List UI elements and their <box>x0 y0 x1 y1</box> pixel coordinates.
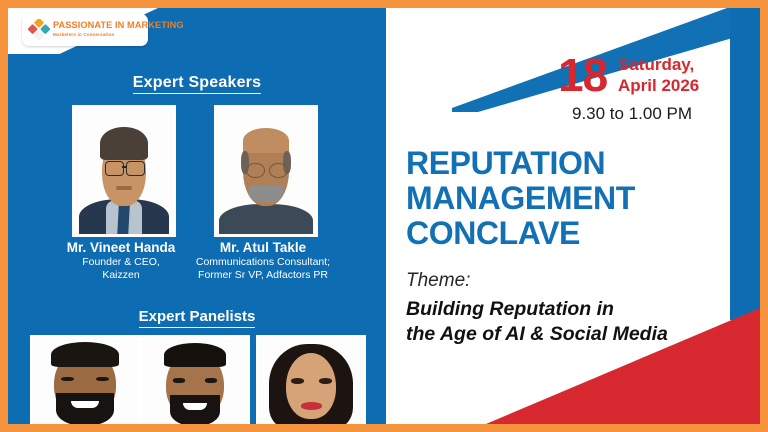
speaker-role-line: Kaizzen <box>42 269 200 282</box>
brand-tagline: Marketers in Conversation <box>53 32 114 37</box>
avatar <box>75 108 173 234</box>
panelist-photo-3 <box>256 335 366 424</box>
brand-name: PASSIONATE IN MARKETING <box>53 20 184 30</box>
beard-shape <box>249 186 282 202</box>
avatar <box>143 338 247 424</box>
puzzle-pieces-icon <box>28 19 50 41</box>
eyeglasses-left <box>105 161 124 176</box>
lips-shape <box>301 402 323 409</box>
tie-shape <box>117 204 129 237</box>
panelist-photo-1 <box>30 335 140 424</box>
theme-line-1: Building Reputation in <box>406 298 614 321</box>
poster-canvas: Expert Speakers <box>8 8 760 424</box>
mouth-shape <box>116 186 132 190</box>
torso-shape <box>219 204 313 237</box>
event-month-year: April 2026 <box>618 75 699 96</box>
hair-shape <box>164 343 226 367</box>
eye-right <box>319 378 331 384</box>
eyeglasses-bridge <box>122 166 126 168</box>
teeth-shape <box>183 403 208 409</box>
eyeglasses-right <box>269 163 288 178</box>
bald-head-shape <box>243 128 288 153</box>
event-day-number: 18 <box>558 52 607 98</box>
speaker-photo-vineet-handa <box>72 105 176 237</box>
theme-label: Theme: <box>406 270 470 292</box>
speaker-role: Founder & CEO, Kaizzen <box>42 256 200 281</box>
event-title-line-1: REPUTATION <box>406 146 706 181</box>
event-title: REPUTATION MANAGEMENT CONCLAVE <box>406 146 706 251</box>
blue-vertical-bar <box>730 8 760 320</box>
eye-right <box>96 377 108 382</box>
theme-line-2: the Age of AI & Social Media <box>406 323 668 346</box>
speaker-role-line: Former Sr VP, Adfactors PR <box>184 269 342 282</box>
expert-speakers-heading: Expert Speakers <box>8 74 386 92</box>
event-title-line-3: CONCLAVE <box>406 216 706 251</box>
hair-shape <box>51 342 120 368</box>
speaker-role-line: Founder & CEO, <box>42 256 200 269</box>
eye-left <box>61 377 73 382</box>
event-poster: Expert Speakers <box>0 0 768 432</box>
event-title-line-2: MANAGEMENT <box>406 181 706 216</box>
avatar <box>217 108 315 234</box>
avatar <box>259 338 363 424</box>
expert-panelists-heading: Expert Panelists <box>8 308 386 325</box>
teeth-shape <box>71 401 98 407</box>
eye-left <box>173 378 184 383</box>
speaker-role: Communications Consultant; Former Sr VP,… <box>184 256 342 281</box>
expert-panelists-heading-text: Expert Panelists <box>139 308 256 328</box>
speaker-name: Mr. Vineet Handa <box>42 240 200 255</box>
event-time: 9.30 to 1.00 PM <box>572 104 692 124</box>
eye-right <box>205 378 216 383</box>
right-white-area: 18 Saturday, April 2026 9.30 to 1.00 PM … <box>386 8 760 424</box>
eyeglasses-right <box>126 161 145 176</box>
speaker-role-line: Communications Consultant; <box>184 256 342 269</box>
hair-shape <box>100 127 147 160</box>
avatar <box>33 338 137 424</box>
speaker-photo-atul-takle <box>214 105 318 237</box>
eyeglasses-left <box>246 163 265 178</box>
beard-shape <box>56 393 114 424</box>
speaker-name: Mr. Atul Takle <box>184 240 342 255</box>
brand-logo-badge[interactable]: PASSIONATE IN MARKETING Marketers in Con… <box>22 14 148 46</box>
expert-speakers-heading-text: Expert Speakers <box>133 74 261 94</box>
panelist-photo-2 <box>140 335 250 424</box>
eye-left <box>291 378 303 384</box>
event-day-of-week: Saturday, <box>618 54 694 75</box>
